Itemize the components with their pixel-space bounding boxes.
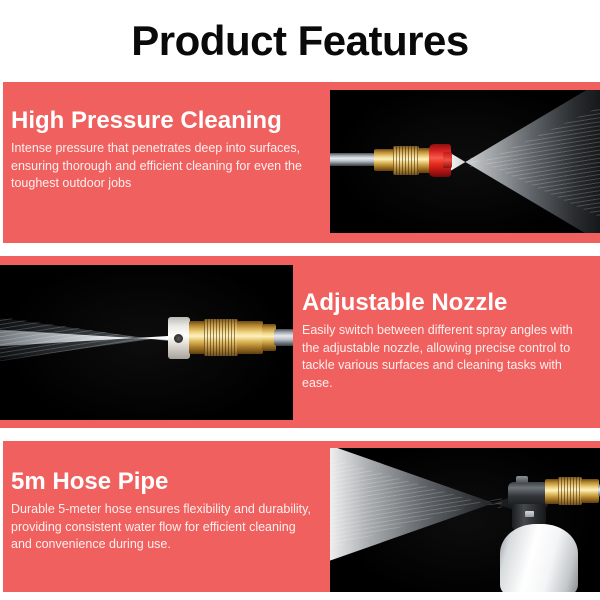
brass-knurled-collar-icon: [558, 477, 582, 505]
brass-hex-fitting-icon: [374, 149, 394, 171]
lance-tube-icon: [274, 329, 293, 346]
feature-title: Adjustable Nozzle: [302, 290, 592, 317]
brass-knurled-collar-icon: [204, 319, 238, 356]
red-nozzle-face-icon: [443, 152, 452, 168]
feature-photo-foam-cannon-spray: [330, 448, 600, 592]
feature-text-block: Adjustable Nozzle Easily switch between …: [302, 290, 592, 393]
page-title: Product Features: [131, 20, 468, 62]
feature-photo-pressure-nozzle-spray: [330, 90, 600, 233]
feature-panel-5m-hose-pipe: 5m Hose Pipe Durable 5-meter hose ensure…: [3, 441, 600, 592]
detergent-bottle-icon: [500, 524, 578, 592]
brass-hex-fitting-icon: [237, 321, 263, 354]
feature-description: Easily switch between different spray an…: [302, 322, 592, 393]
brass-knurled-collar-icon: [393, 146, 419, 175]
bottle-label-icon: [525, 511, 534, 517]
feature-title: 5m Hose Pipe: [11, 469, 311, 496]
feature-panel-adjustable-nozzle: Adjustable Nozzle Easily switch between …: [0, 256, 600, 428]
brass-hex-fitting-icon: [581, 479, 599, 503]
brass-collar-icon: [189, 321, 205, 354]
brass-collar-icon: [545, 479, 559, 504]
feature-photo-adjustable-nozzle-jet: [0, 265, 293, 420]
feature-text-block: 5m Hose Pipe Durable 5-meter hose ensure…: [11, 469, 311, 554]
product-features-infographic: Product Features High Pressure Cleaning …: [0, 0, 600, 600]
feature-description: Durable 5-meter hose ensures flexibility…: [11, 501, 311, 554]
nozzle-orifice-icon: [174, 334, 183, 343]
feature-text-block: High Pressure Cleaning Intense pressure …: [11, 108, 316, 193]
page-header: Product Features: [0, 0, 600, 82]
feature-title: High Pressure Cleaning: [11, 108, 316, 135]
feature-description: Intense pressure that penetrates deep in…: [11, 140, 316, 193]
foam-cannon-adjust-knob-icon: [516, 476, 528, 484]
feature-panel-high-pressure-cleaning: High Pressure Cleaning Intense pressure …: [3, 82, 600, 243]
